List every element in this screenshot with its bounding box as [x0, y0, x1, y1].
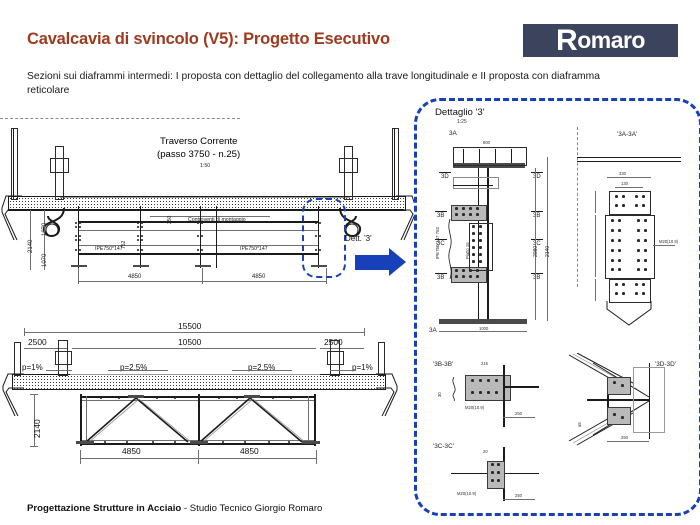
dim-base-line — [439, 331, 527, 332]
dim-panel-right: 4850 — [240, 446, 259, 456]
slide: Cavalcavia di svincolo (V5): Progetto Es… — [0, 0, 700, 525]
dim-height-total: 2140 — [28, 240, 34, 253]
mark-3b-rl-tick — [531, 273, 543, 274]
section-3d-3d: '3D-3D' — [563, 353, 688, 453]
stud-box — [453, 147, 527, 166]
top-drawing-subtitle: (passo 3750 - n.25) — [157, 149, 240, 160]
dim-outer-height-line — [547, 157, 548, 321]
section-mark-3a-bottom: 3A — [429, 327, 437, 334]
beam-centerline — [0, 118, 240, 119]
dim-panel-tick-c — [316, 450, 317, 464]
dim-3d-note: a5 — [577, 422, 582, 427]
beam-bottom-flange — [78, 253, 318, 255]
bolt-spec-cc: M20(10.9) — [457, 491, 476, 496]
dim-aa-line1 — [607, 177, 651, 178]
sec3a-dimline-2 — [595, 215, 596, 277]
section-mark-3a-top: 3A — [449, 130, 457, 137]
barrier-plate-right — [339, 158, 358, 173]
dim-inner-height-line — [535, 168, 536, 320]
dim-panel-right-line — [198, 458, 316, 459]
sec3b-break — [449, 377, 459, 401]
dim-bb-w: 215 — [481, 361, 488, 366]
beam-web-line-a — [78, 230, 318, 231]
stiffener-1 — [78, 206, 79, 268]
stiffener-3 — [200, 206, 201, 268]
dim-inner: 10500 — [178, 337, 201, 347]
barrier-post-left — [55, 146, 64, 200]
detail-plate-note: Piatto 15 — [465, 242, 470, 259]
sec3b-dimline — [503, 417, 535, 418]
sec3a-top-line — [577, 157, 681, 158]
slab-camber-bottom — [70, 374, 320, 375]
dim-tick-b — [202, 268, 203, 284]
gusset-top-left — [128, 395, 144, 398]
dim-bb-left: 30 — [437, 392, 442, 397]
section-mark-3d-right-tick — [531, 172, 543, 173]
sec3d-dimline — [607, 441, 649, 442]
logo-initial: R — [556, 24, 577, 57]
dim-bb-d: 250 — [515, 411, 522, 416]
right-edge-profile-bottom — [372, 372, 400, 420]
dim-small: 250 — [167, 216, 173, 224]
detail-3-callout-label: Dett. '3' — [345, 234, 372, 243]
dim-cc-t: 20 — [483, 449, 488, 454]
stiffener-2 — [140, 206, 141, 268]
detail-main-elevation: 800 3D 3D 3A 3B 3B 3B 3B 3C — [431, 127, 561, 347]
slide-subtitle: Sezioni sui diaframmi intermedi: I propo… — [27, 70, 627, 98]
section-3a-title: '3A-3A' — [617, 131, 637, 138]
dim-truss-tick-b — [30, 446, 38, 447]
footer: Progettazione Strutture in Acciaio - Stu… — [27, 503, 322, 514]
section-mark-3b-left-upper: 3B — [437, 213, 444, 219]
sec3a-dimline-3 — [595, 279, 596, 301]
section-3a-3a: '3A-3A' 330 130 — [577, 127, 687, 337]
upper-beam-stub — [453, 177, 499, 189]
dim-panel-tick-a — [80, 450, 81, 464]
stiffener-4 — [216, 206, 217, 268]
dim-plate-width-top: 800 — [483, 140, 490, 145]
sec3a-dimline-1 — [595, 191, 596, 213]
section-mark-3b-left-lower: 3B — [437, 275, 444, 281]
dim-upper: 1070 — [42, 223, 48, 236]
dim-aa-line2 — [615, 187, 643, 188]
bolt-spec-aa: M20(10.9) — [659, 239, 678, 244]
detail-panel-scale: 1:25 — [457, 119, 467, 125]
mark-3b-lu-tick — [435, 211, 447, 212]
logo-text: Romaro — [556, 26, 645, 56]
sec3d-frame — [633, 367, 665, 433]
dim-aa-w1: 330 — [619, 171, 626, 176]
detail-3-highlight[interactable] — [302, 198, 346, 278]
slope-left-outer: p=1% — [22, 363, 43, 372]
dim-truss-tick-t — [30, 394, 38, 395]
dim-height-inner: 2080 — [533, 246, 539, 257]
beam-label-left: IPE750*147 — [95, 246, 123, 252]
dim-panel-tick-b — [198, 450, 199, 464]
railing-rail-right — [394, 128, 395, 198]
barrier-plate-left — [50, 158, 69, 173]
sec3d-gusset-bottom — [607, 407, 631, 425]
truss-diagonals — [78, 394, 318, 448]
base-plate-3 — [195, 265, 211, 267]
top-drawing-title: Traverso Corrente — [160, 136, 238, 147]
page-title: Cavalcavia di svincolo (V5): Progetto Es… — [27, 30, 390, 49]
base-plate-2 — [133, 265, 149, 267]
section-3c-title: '3C-3C' — [433, 443, 454, 450]
section-mark-3d-left: 3D — [441, 174, 449, 180]
gusset-right — [302, 441, 320, 444]
slope-arrow-2 — [108, 370, 168, 371]
section-3b-title: '3B-3B' — [433, 361, 453, 368]
section-mark-3d-left-tick — [439, 172, 451, 173]
break-line — [445, 219, 455, 279]
sec3a-leader — [653, 245, 675, 246]
dim-panel-left-line — [80, 458, 198, 459]
bottom-drawing-diaframma-reticolare: 15500 10500 2500 2500 p=1% p=2.5% p=2 — [0, 310, 400, 470]
dim-height-outer: 2140 — [545, 246, 551, 257]
dim-tick-a — [78, 268, 79, 284]
upper-beam-line — [453, 185, 493, 186]
slope-arrow-3 — [232, 370, 292, 371]
beam-label-right: IPE750*147 — [240, 246, 268, 252]
mark-3c-r-tick — [531, 239, 543, 240]
dim-span-left-line — [78, 281, 202, 282]
deck-slab-bottom — [12, 374, 386, 390]
dim-aa-w2: 130 — [621, 181, 628, 186]
sec3d-gusset-top — [607, 377, 631, 395]
dim-panel-left: 4850 — [122, 446, 141, 456]
gusset-left — [76, 441, 94, 444]
dim-truss-height: 2140 — [32, 419, 42, 438]
sec3b-flange — [503, 386, 539, 388]
dim-inner-line — [72, 348, 316, 349]
detail-3-panel: Dettaglio '3' 1:25 800 3D 3D 3A — [414, 98, 700, 516]
logo-rest: omaro — [577, 27, 645, 53]
footer-rest: - Studio Tecnico Giorgio Romaro — [181, 503, 322, 514]
slab-camber — [60, 197, 350, 198]
railing-post-left-bottom — [14, 342, 21, 376]
section-3c-3c: '3C-3C' M20(10.9) 250 20 — [431, 441, 551, 507]
dim-overall: 15500 — [178, 321, 201, 331]
dim-overall-tick-l — [24, 328, 25, 336]
detail-panel-title: Dettaglio '3' — [435, 107, 485, 118]
blue-arrow-icon — [355, 248, 407, 277]
romaro-logo: Romaro — [523, 24, 678, 57]
sec3a-taper — [605, 301, 653, 327]
sec3c-dimline — [503, 499, 535, 500]
sec3a-top-line2 — [577, 161, 681, 162]
dim-cant-right-line — [320, 348, 364, 349]
barrier-plate-left-bottom — [55, 351, 72, 365]
railing-rail-left — [13, 128, 14, 198]
sec3c-plate — [487, 461, 505, 489]
mark-3b-ru-tick — [531, 211, 543, 212]
dim-dd-d: 250 — [621, 435, 628, 440]
gusset-mid — [190, 441, 208, 444]
top-drawing-scale: 1:50 — [200, 163, 210, 169]
dim-span-right: 4850 — [252, 274, 265, 280]
left-edge-profile — [0, 194, 24, 244]
base-plate-detail — [439, 319, 527, 324]
slope-arrow-4 — [330, 370, 356, 371]
dim-overall-tick-r — [364, 328, 365, 336]
footer-bold: Progettazione Strutture in Acciaio — [27, 503, 181, 514]
dim-overall-line — [24, 332, 364, 333]
dim-span-right-line — [202, 281, 326, 282]
dim-span-left: 4850 — [128, 274, 141, 280]
barrier-post-right — [344, 146, 353, 200]
sec3a-centerline — [577, 127, 578, 287]
base-plate-1 — [71, 265, 87, 267]
dim-lower: 1070 — [42, 254, 48, 267]
bolt-spec-bb: M20(10.9) — [465, 405, 484, 410]
gusset-top-right — [244, 395, 260, 398]
dim-cantilever-left: 2500 — [28, 337, 47, 347]
railing-post-right-bottom — [378, 342, 385, 376]
dim-web: 752 — [121, 241, 127, 249]
section-3b-3b: '3B-3B' 215 M20(10.9) 250 30 — [431, 359, 551, 439]
barrier-plate-right-bottom — [327, 351, 344, 365]
slope-arrow-1 — [46, 370, 72, 371]
left-edge-profile-bottom — [0, 372, 26, 420]
dim-cc-d: 250 — [515, 493, 522, 498]
detail-beam-label: IPE750*147 752 — [435, 227, 440, 259]
